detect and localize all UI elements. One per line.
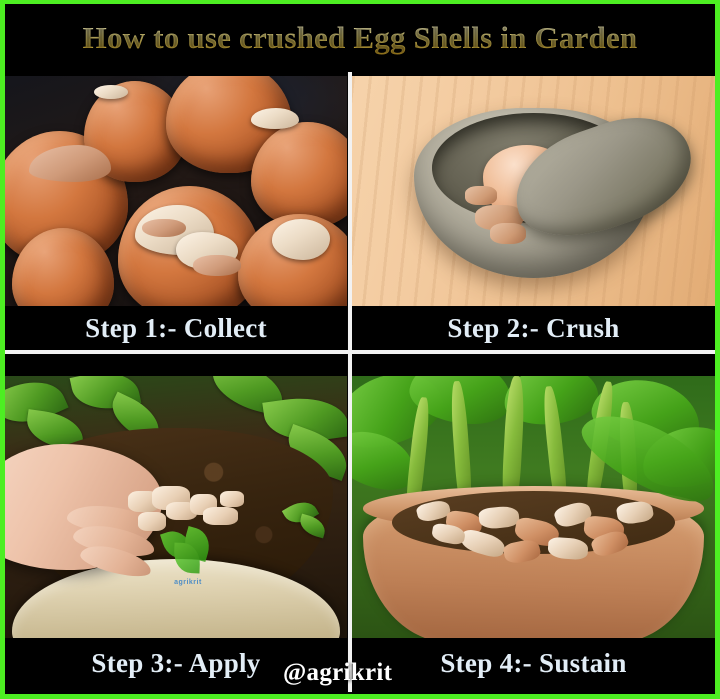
title-bar: How to use crushed Egg Shells in Garden: [5, 4, 715, 72]
step-1-label: Step 1:- Collect: [85, 313, 267, 344]
eggshell-inner-shape: [251, 108, 299, 129]
step-card-2: Step 2:- Crush: [352, 72, 715, 350]
step-2-label: Step 2:- Crush: [447, 313, 619, 344]
agrikrit-logo: agrikrit: [159, 528, 217, 586]
vertical-divider: [348, 72, 352, 692]
eggshell-inner-shape: [193, 255, 241, 276]
step-3-label: Step 3:- Apply: [91, 648, 260, 679]
infographic-poster: How to use crushed Egg Shells in Garden: [0, 0, 720, 699]
crushed-shell-shape: [465, 186, 498, 204]
step-1-photo: [5, 76, 347, 306]
step-card-4: Step 4:- Sustain: [352, 354, 715, 698]
step-card-3: agrikrit Step 3:- Apply: [5, 354, 347, 698]
eggshell-inner-shape: [272, 219, 330, 260]
step-4-label: Step 4:- Sustain: [440, 648, 626, 679]
logo-text: agrikrit: [159, 579, 217, 586]
horizontal-divider: [5, 350, 715, 354]
eggshell-inner-shape: [94, 85, 128, 99]
eggshell-inner-shape: [142, 219, 186, 237]
page-title: How to use crushed Egg Shells in Garden: [83, 20, 638, 56]
crushed-shell-shape: [203, 507, 237, 525]
step-2-photo: [352, 76, 715, 306]
step-4-photo: [352, 376, 715, 638]
step-4-label-band: Step 4:- Sustain: [352, 638, 715, 688]
steps-grid: Step 1:- Collect Step 2:- Crush: [5, 72, 715, 698]
step-1-label-band: Step 1:- Collect: [5, 306, 347, 350]
crushed-shell-shape: [220, 491, 244, 507]
watermark-handle: @agrikrit: [283, 659, 392, 687]
step-card-1: Step 1:- Collect: [5, 72, 347, 350]
crushed-shell-shape: [490, 223, 526, 244]
step-3-photo: agrikrit: [5, 376, 347, 638]
step-2-label-band: Step 2:- Crush: [352, 306, 715, 350]
